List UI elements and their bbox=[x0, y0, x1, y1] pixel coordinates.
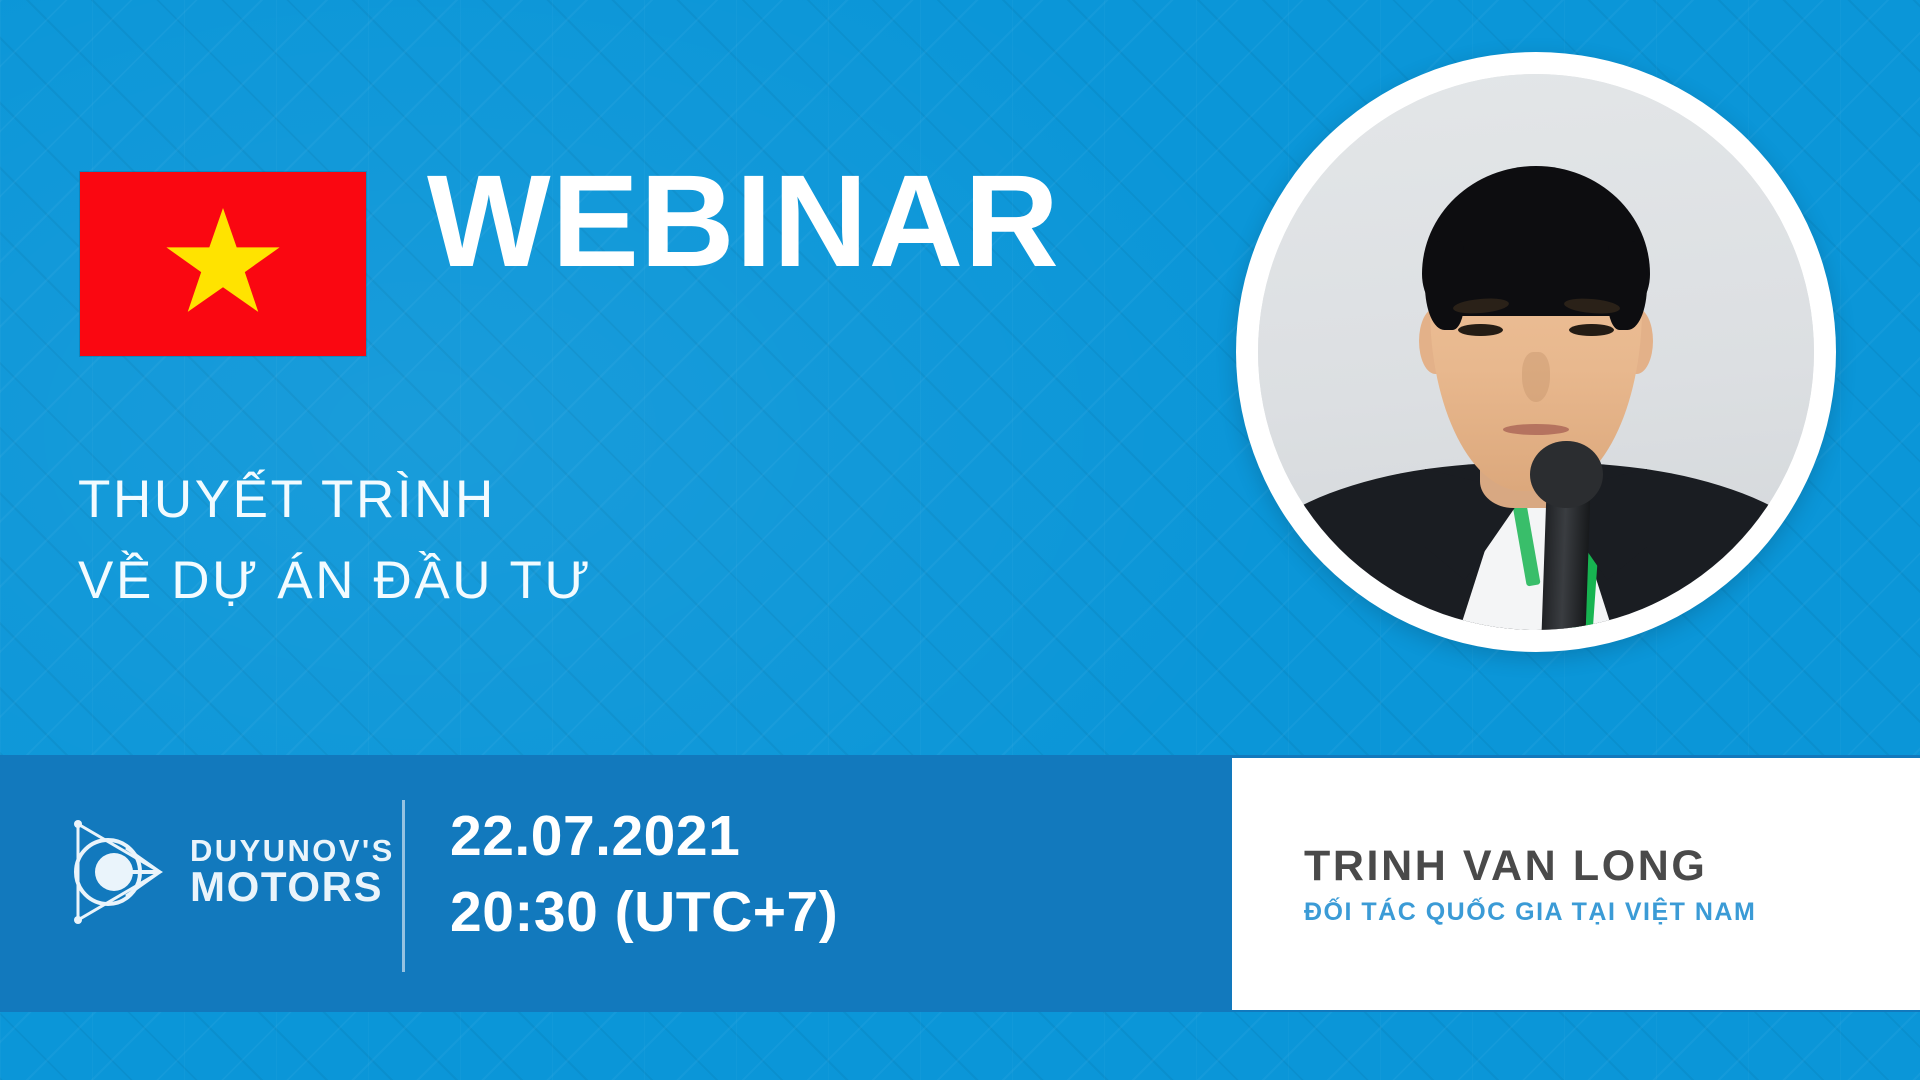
event-datetime: 22.07.2021 20:30 (UTC+7) bbox=[450, 798, 838, 951]
vietnam-flag-icon bbox=[80, 172, 366, 356]
speaker-name-panel: TRINH VAN LONG ĐỐI TÁC QUỐC GIA TẠI VIỆT… bbox=[1232, 758, 1920, 1010]
duyunovs-motors-logo: DUYUNOV'S MOTORS bbox=[64, 818, 395, 926]
event-date: 22.07.2021 bbox=[450, 798, 838, 874]
photo-hair-side-right bbox=[1608, 241, 1647, 330]
subtitle-line-2: VỀ DỰ ÁN ĐẦU TƯ bbox=[78, 541, 592, 622]
photo-nose bbox=[1522, 352, 1550, 402]
microphone-head-icon bbox=[1530, 441, 1602, 508]
vertical-divider bbox=[402, 800, 405, 972]
logo-wordmark: DUYUNOV'S MOTORS bbox=[190, 835, 395, 909]
photo-hair-side-left bbox=[1425, 241, 1464, 330]
subtitle-line-1: THUYẾT TRÌNH bbox=[78, 460, 592, 541]
event-time: 20:30 (UTC+7) bbox=[450, 874, 838, 950]
speaker-avatar bbox=[1236, 52, 1836, 652]
logo-arrow-circle-icon bbox=[64, 818, 168, 926]
subtitle-block: THUYẾT TRÌNH VỀ DỰ ÁN ĐẦU TƯ bbox=[78, 460, 592, 621]
speaker-name: TRINH VAN LONG bbox=[1304, 844, 1756, 889]
logo-line-2: MOTORS bbox=[190, 866, 395, 909]
speaker-role: ĐỐI TÁC QUỐC GIA TẠI VIỆT NAM bbox=[1304, 898, 1756, 927]
speaker-name-block: TRINH VAN LONG ĐỐI TÁC QUỐC GIA TẠI VIỆT… bbox=[1304, 844, 1756, 927]
flag-star-icon bbox=[165, 208, 281, 320]
speaker-photo bbox=[1258, 74, 1814, 630]
logo-line-1: DUYUNOV'S bbox=[190, 835, 395, 867]
webinar-banner: WEBINAR THUYẾT TRÌNH VỀ DỰ ÁN ĐẦU TƯ bbox=[0, 0, 1920, 1080]
headline-webinar: WEBINAR bbox=[427, 155, 1060, 286]
microphone-body-icon bbox=[1542, 490, 1591, 630]
